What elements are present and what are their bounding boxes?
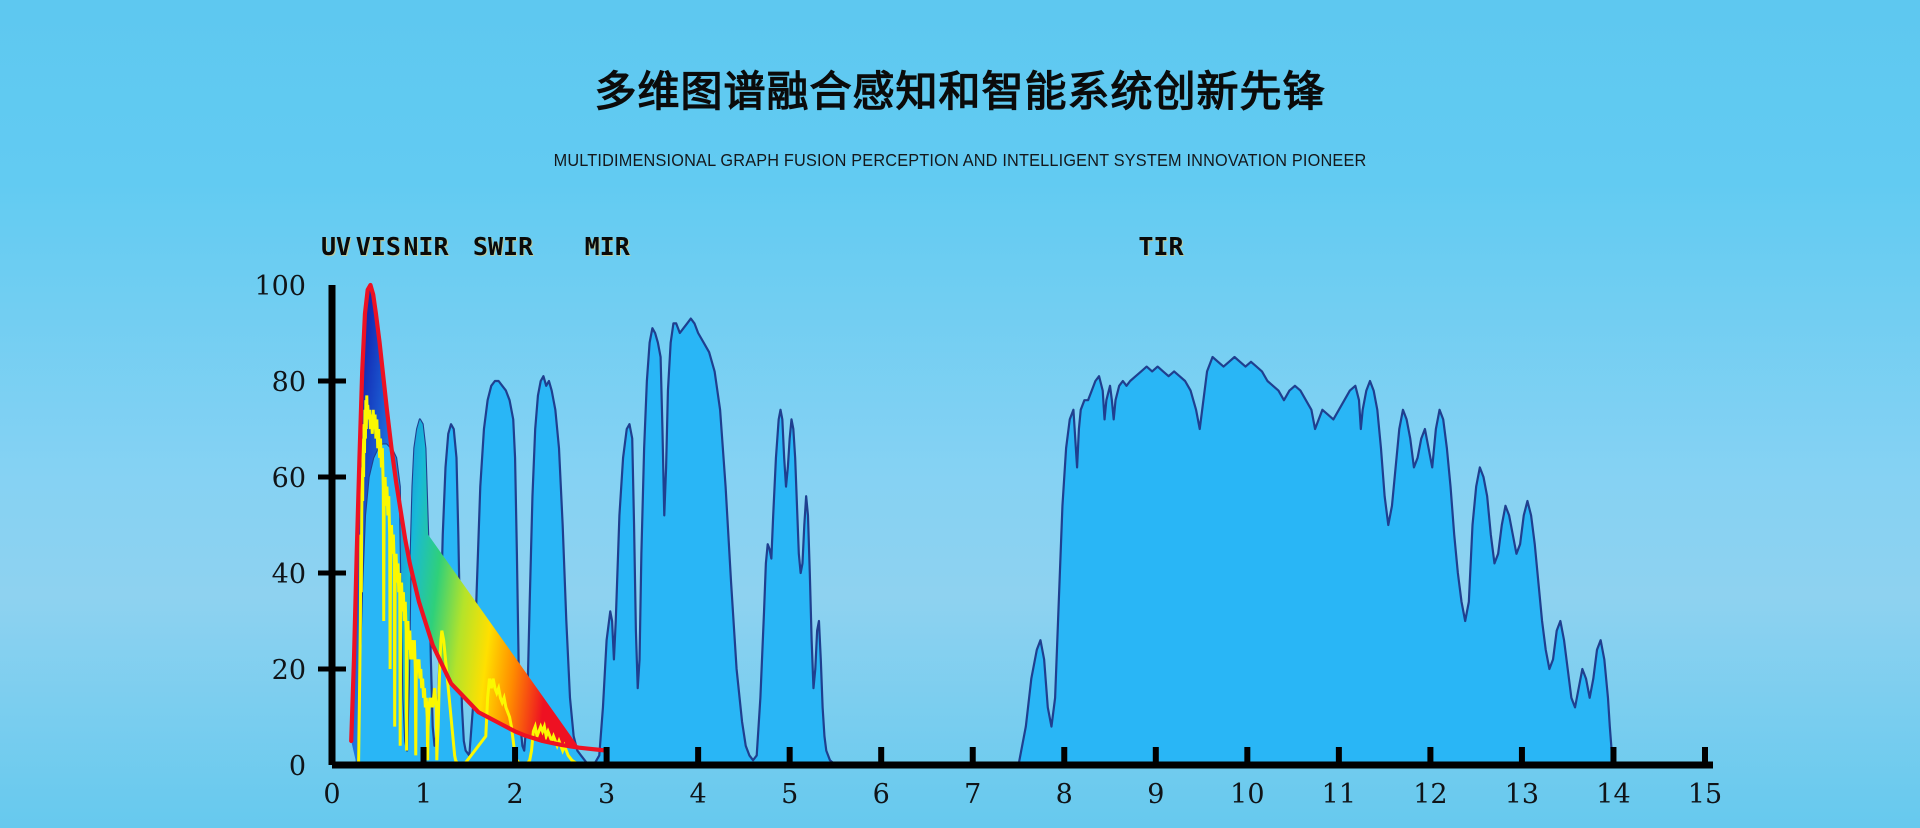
y-axis-tick-label: 80 <box>272 367 306 398</box>
x-axis-tick-label: 0 <box>323 779 340 810</box>
y-axis-tick-labels: 020406080100 <box>254 271 306 782</box>
x-axis-tick-label: 15 <box>1688 779 1722 810</box>
x-axis-tick-label: 8 <box>1056 779 1073 810</box>
x-axis-tick-label: 5 <box>781 779 798 810</box>
x-axis-tick-label: 2 <box>506 779 523 810</box>
chart-canvas: 多维图谱融合感知和智能系统创新先锋 MULTIDIMENSIONAL GRAPH… <box>0 0 1920 828</box>
x-axis-tick-label: 7 <box>964 779 981 810</box>
y-axis-tick-label: 60 <box>272 463 306 494</box>
transmission-band-area <box>357 319 1614 765</box>
x-axis-tick-label: 9 <box>1147 779 1164 810</box>
x-axis-tick-label: 10 <box>1230 779 1264 810</box>
y-axis-tick-label: 40 <box>272 559 306 590</box>
x-axis-tick-label: 12 <box>1413 779 1447 810</box>
x-axis-tick-label: 13 <box>1505 779 1539 810</box>
x-axis-tick-labels: 0123456789101112131415 <box>323 779 1722 810</box>
x-axis-tick-label: 3 <box>598 779 615 810</box>
x-axis-tick-label: 11 <box>1322 779 1356 810</box>
x-axis-tick-label: 6 <box>873 779 890 810</box>
spectral-plot: 020406080100 0123456789101112131415 <box>0 0 1920 828</box>
x-axis-tick-label: 1 <box>415 779 432 810</box>
x-axis-tick-label: 4 <box>690 779 707 810</box>
y-axis-tick-label: 100 <box>254 271 306 302</box>
y-axis-tick-label: 0 <box>289 751 306 782</box>
transmission-band-segment <box>1019 357 1614 765</box>
transmission-band-segment <box>594 319 836 765</box>
x-axis-tick-label: 14 <box>1596 779 1630 810</box>
y-axis-tick-label: 20 <box>272 655 306 686</box>
